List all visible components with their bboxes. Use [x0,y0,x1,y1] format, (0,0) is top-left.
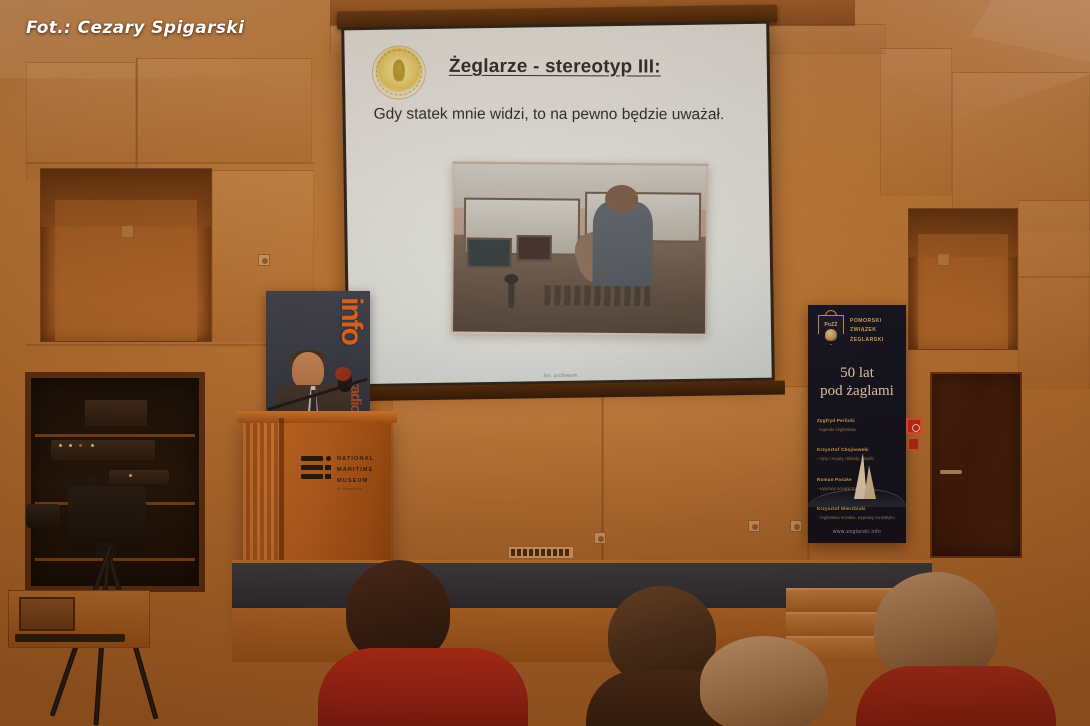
podium-museum-subtitle: w Gdańsku [337,486,362,491]
banner-pomorski-zwiazek-zeglarski: PoZŻ POMORSKI ZWIĄZEK ŻEGLARSKI 50 lat p… [808,305,906,543]
photo-control-knobs [544,285,650,306]
photo-instrument-monitor [517,235,552,262]
photo-radar-monitor [466,238,512,269]
screen-frame: Żeglarze - stereotyp III: Gdy statek mni… [341,21,775,388]
wall-panel-center-lower [392,386,602,566]
national-maritime-museum-logo-icon [301,456,331,482]
audience-head [700,636,828,726]
pozz-crest-icon: PoZŻ [818,315,844,345]
wave-graphic [808,489,906,507]
audience-shoulders [856,666,1056,726]
alcove-plate [937,253,950,266]
photo-throttle-lever [509,281,515,309]
slide-surface: Żeglarze - stereotyp III: Gdy statek mni… [344,24,772,385]
entry-desc: - żeglarstwo morskie, wyprawy na Bałtyku [817,515,897,521]
wall-socket [258,254,270,266]
audience-member [856,572,1056,726]
slide-embedded-photo [451,162,708,336]
entry-desc: - legenda żeglarstwa [817,427,897,433]
wall-panel-right-lower [1018,200,1090,390]
org-line-3: ŻEGLARSKI [850,336,902,345]
banner-headline: 50 lat pod żaglami [808,365,906,400]
headline-line-2: pod żaglami [808,383,906,401]
wall-socket [594,532,606,544]
door-handle[interactable] [940,470,962,474]
logo-bar [301,465,323,470]
av-gear [51,440,155,460]
control-keyboard [15,634,125,642]
wall-socket [790,520,802,532]
museum-line-2: MARITIME [337,465,389,476]
alcove-back [918,234,1009,349]
control-monitor-screen [19,597,75,631]
podium-museum-name: NATIONAL MARITIME MUSEUM [337,454,389,488]
audience-shoulders [318,648,528,726]
entry-name: Zygfryd Perlicki [817,418,855,423]
conference-hall-photo: Żeglarze - stereotyp III: Gdy statek mni… [0,0,1090,726]
slide-photo-caption: fot. archiwum [350,370,772,383]
seal-rim [376,49,423,96]
wall-panel-upper-left-2 [136,58,312,162]
wall-seam [136,58,138,168]
fire-alarm-box [908,438,919,450]
control-desk [8,590,150,648]
status-led [91,444,94,447]
photo-person-head [605,185,638,212]
crest-label: PoZŻ [824,322,837,328]
logo-bar [301,474,323,479]
logo-tick [325,474,331,479]
status-led [69,444,72,447]
audience-member [700,636,850,726]
griffin-icon [825,329,837,341]
av-gear [109,470,169,484]
logo-tick [325,465,331,470]
stage-connector-panel [508,546,574,559]
headline-line-1: 50 lat [808,365,906,383]
museum-line-1: NATIONAL [337,454,389,465]
banner-org-name: POMORSKI ZWIĄZEK ŻEGLARSKI [850,317,902,345]
exit-door[interactable] [930,372,1022,558]
org-line-1: POMORSKI [850,317,902,326]
wall-panel-upper-right [880,48,952,196]
alcove-back [55,200,198,341]
microphone-icon [338,372,352,392]
mic-boom-arm [268,378,368,411]
projection-screen: Żeglarze - stereotyp III: Gdy statek mni… [341,21,775,388]
slide-title: Żeglarze - stereotyp III: [449,56,749,79]
banner-sailboat-graphic [808,443,906,513]
podium-top [237,411,397,423]
status-led [129,474,132,477]
banner-url: www.zeglarski.info [808,529,906,535]
maritime-academy-seal-icon [371,45,426,100]
fire-alarm-call-point-icon [906,418,922,434]
wall-alcove-left [40,168,212,342]
wall-seam [26,162,314,164]
camera-lens-icon [26,504,60,528]
av-gear [85,400,147,426]
audience-member [318,560,528,726]
banner-info-word: info [339,297,365,344]
wall-socket [748,520,760,532]
status-led [79,444,82,447]
banner-entry: Zygfryd Perlicki - legenda żeglarstwa [817,409,897,433]
logo-dot [326,456,331,461]
logo-bar [301,456,323,461]
photographer-watermark: Fot.: Cezary Spigarski [26,18,244,38]
wall-panel-center-lower-2 [602,386,808,566]
wall-alcove-right [908,208,1018,350]
camera-body [68,486,146,550]
alcove-plate [121,225,134,238]
slide-body-text: Gdy statek mnie widzi, to na pewno będzi… [374,105,754,126]
photo-person-torso [592,202,653,290]
status-led [59,444,62,447]
rack-shelf [35,434,195,437]
org-line-2: ZWIĄZEK [850,326,902,335]
